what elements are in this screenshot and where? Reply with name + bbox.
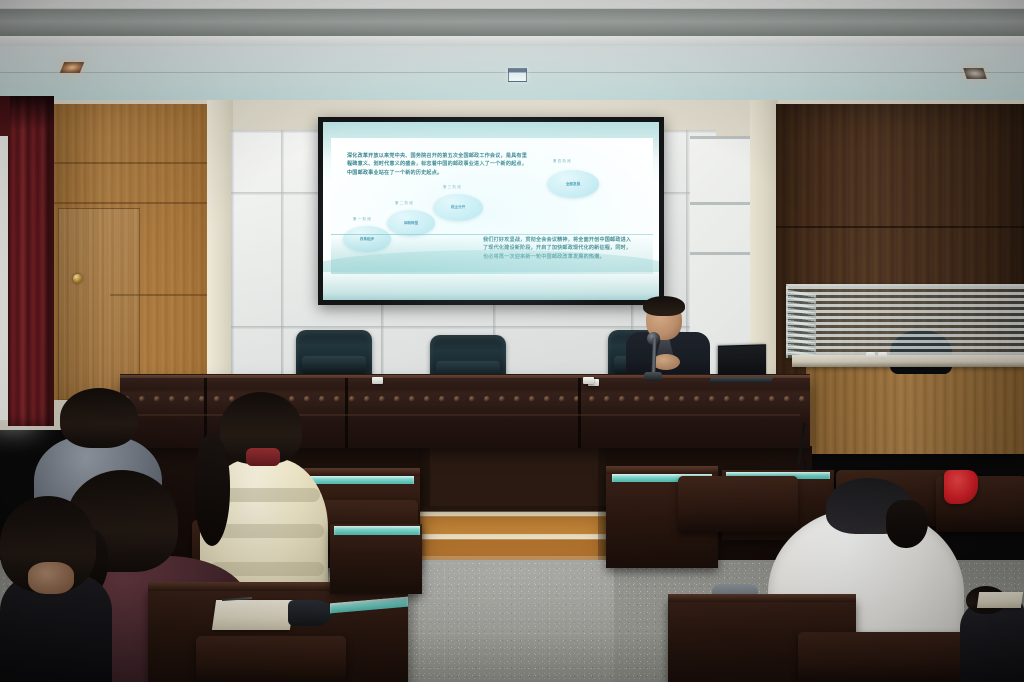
dark-gloves bbox=[288, 600, 332, 626]
ceiling-coffer bbox=[0, 9, 1024, 38]
wood-door[interactable] bbox=[58, 208, 140, 400]
service-counter-booth bbox=[806, 362, 1024, 454]
speaker-hair bbox=[643, 296, 685, 316]
maroon-curtain bbox=[8, 96, 54, 426]
bubble-caption-3: 政企分开 bbox=[451, 205, 465, 210]
slide-text-top: 深化改革开放以来党中央、国务院召开的第五次全国邮政工作会议，是具有里程碑意义、划… bbox=[347, 152, 527, 177]
attendee-dark-left-face bbox=[28, 562, 74, 594]
bubble-label-2: 第二阶段 bbox=[395, 200, 414, 205]
bubble-label-4: 第四阶段 bbox=[553, 158, 572, 163]
audience-desk-top bbox=[334, 526, 420, 535]
open-notebook bbox=[212, 600, 294, 630]
projector-screen: 深化改革开放以来党中央、国务院召开的第五次全国邮政工作会议，是具有里程碑意义、划… bbox=[318, 117, 664, 305]
wood-panel-wall-left bbox=[52, 104, 207, 400]
slide-bubble-4: 全面发展 bbox=[547, 170, 599, 198]
curtain-edge bbox=[0, 96, 10, 136]
open-notebook bbox=[977, 592, 1023, 608]
bubble-label-1: 第一阶段 bbox=[353, 216, 372, 221]
conference-room-photo: 深化改革开放以来党中央、国务院召开的第五次全国邮政工作会议，是具有里程碑意义、划… bbox=[0, 0, 1024, 682]
slide-bubble-3: 政企分开 bbox=[433, 194, 483, 221]
speaker-hands bbox=[652, 354, 680, 370]
attendee-gray-jacket-head bbox=[60, 388, 138, 448]
booth-counter-top bbox=[792, 355, 1024, 367]
ceiling-coffer-lip bbox=[0, 36, 1024, 44]
microphone-base bbox=[644, 372, 662, 381]
projector-mount-icon bbox=[508, 68, 527, 82]
nameplate bbox=[583, 377, 594, 384]
bubble-label-3: 第三阶段 bbox=[443, 184, 462, 189]
presidium-desk-seam bbox=[578, 378, 581, 448]
projection-surface: 深化改革开放以来党中央、国务院召开的第五次全国邮政工作会议，是具有里程碑意义、划… bbox=[323, 122, 659, 300]
bubble-caption-2: 体制转型 bbox=[404, 221, 418, 226]
laptop-base bbox=[709, 377, 773, 383]
curtain-top-shadow bbox=[8, 96, 54, 130]
brass-door-knob-icon[interactable] bbox=[73, 274, 82, 283]
attendee-cream-puffer-scarf bbox=[246, 448, 280, 466]
audience-bench bbox=[798, 632, 968, 682]
nameplate bbox=[372, 377, 383, 384]
presidium-desk-seam bbox=[345, 378, 348, 448]
paper-cup bbox=[866, 352, 875, 359]
speaker-person bbox=[620, 296, 716, 386]
attendee-dark-left bbox=[0, 478, 112, 682]
audience-bench bbox=[196, 636, 346, 682]
audience-desk-edge bbox=[668, 594, 856, 602]
frosted-glass-partition bbox=[786, 284, 1024, 358]
center-aisle-highlight bbox=[418, 556, 614, 682]
slide-bubble-2: 体制转型 bbox=[387, 210, 435, 236]
downlight-icon bbox=[963, 68, 987, 79]
presentation-slide: 深化改革开放以来党中央、国务院召开的第五次全国邮政工作会议，是具有里程碑意义、划… bbox=[331, 138, 653, 274]
audience-desk-edge bbox=[606, 466, 718, 474]
bubble-caption-4: 全面发展 bbox=[566, 182, 580, 187]
ceiling bbox=[0, 0, 1024, 112]
frosted-glass-partition-side bbox=[786, 289, 816, 360]
paper-cup bbox=[878, 352, 887, 359]
wall-pilaster-left bbox=[207, 100, 233, 400]
